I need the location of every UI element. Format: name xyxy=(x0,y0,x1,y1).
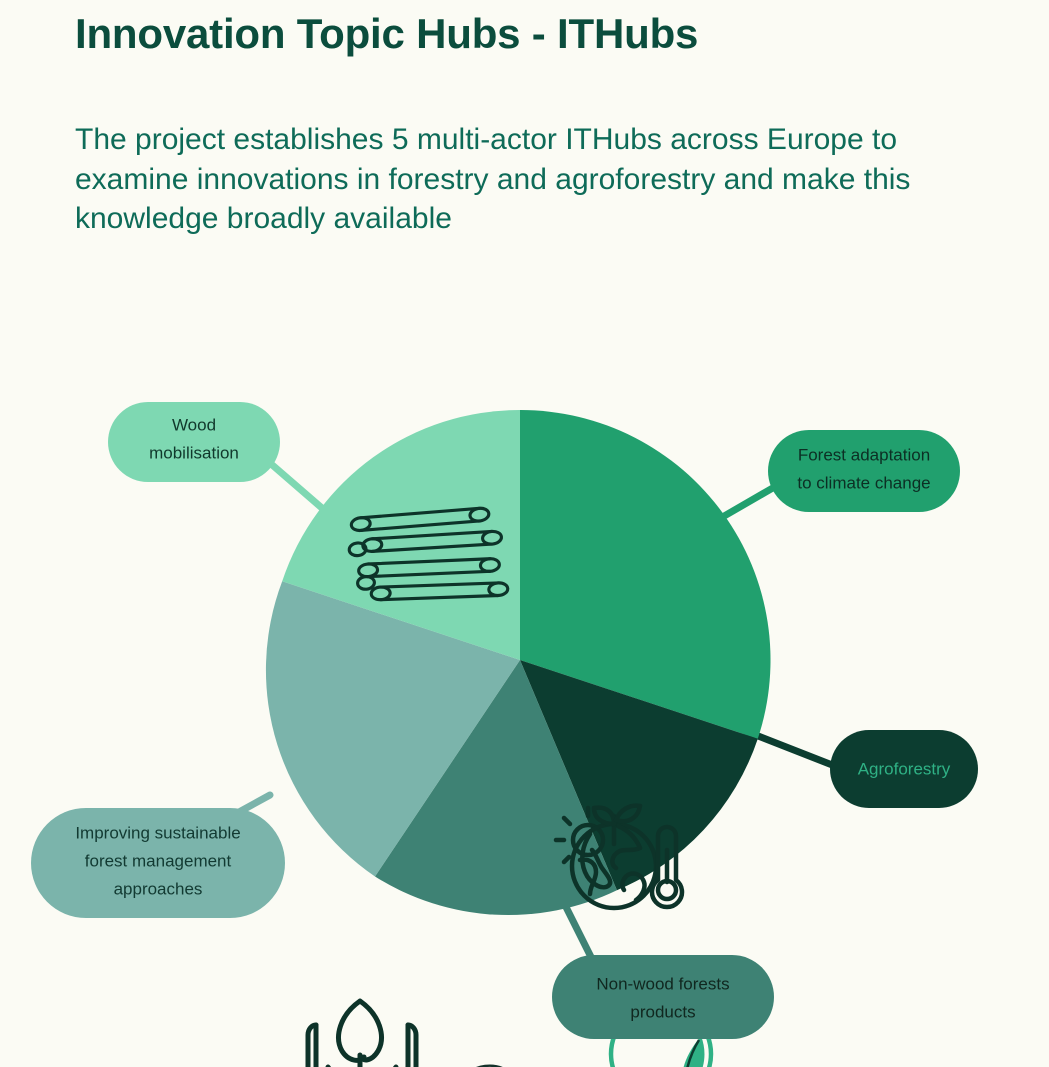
label-forest-adaptation-line2: to climate change xyxy=(797,473,930,492)
label-wood-mobilisation-line2: mobilisation xyxy=(149,443,239,462)
label-pill-forest-adaptation[interactable]: Forest adaptation to climate change xyxy=(768,430,960,512)
infographic-page: Innovation Topic Hubs - ITHubs The proje… xyxy=(0,0,1049,1067)
label-pill-non-wood-forests-products[interactable]: Non-wood forests products xyxy=(552,955,774,1039)
hands-holding-leaf-icon xyxy=(308,1001,416,1067)
page-title: Innovation Topic Hubs - ITHubs xyxy=(75,10,698,58)
label-pill-agroforestry[interactable]: Agroforestry xyxy=(830,730,978,808)
label-non-wood-line2: products xyxy=(630,1002,695,1021)
pie-slices xyxy=(266,410,771,915)
label-sustainable-line3: approaches xyxy=(114,879,203,898)
page-subtitle: The project establishes 5 multi-actor IT… xyxy=(75,120,1005,239)
ithubs-pie-diagram: Wood mobilisation Forest adaptation to c… xyxy=(0,330,1049,1067)
label-sustainable-line2: forest management xyxy=(85,851,232,870)
label-wood-mobilisation-line1: Wood xyxy=(172,415,216,434)
label-agroforestry: Agroforestry xyxy=(858,759,951,778)
label-non-wood-line1: Non-wood forests xyxy=(596,974,729,993)
label-pill-wood-mobilisation[interactable]: Wood mobilisation xyxy=(108,402,280,482)
label-forest-adaptation-line1: Forest adaptation xyxy=(798,445,930,464)
label-sustainable-line1: Improving sustainable xyxy=(75,823,240,842)
label-pill-improving-sustainable-forest-management[interactable]: Improving sustainable forest management … xyxy=(31,808,285,918)
